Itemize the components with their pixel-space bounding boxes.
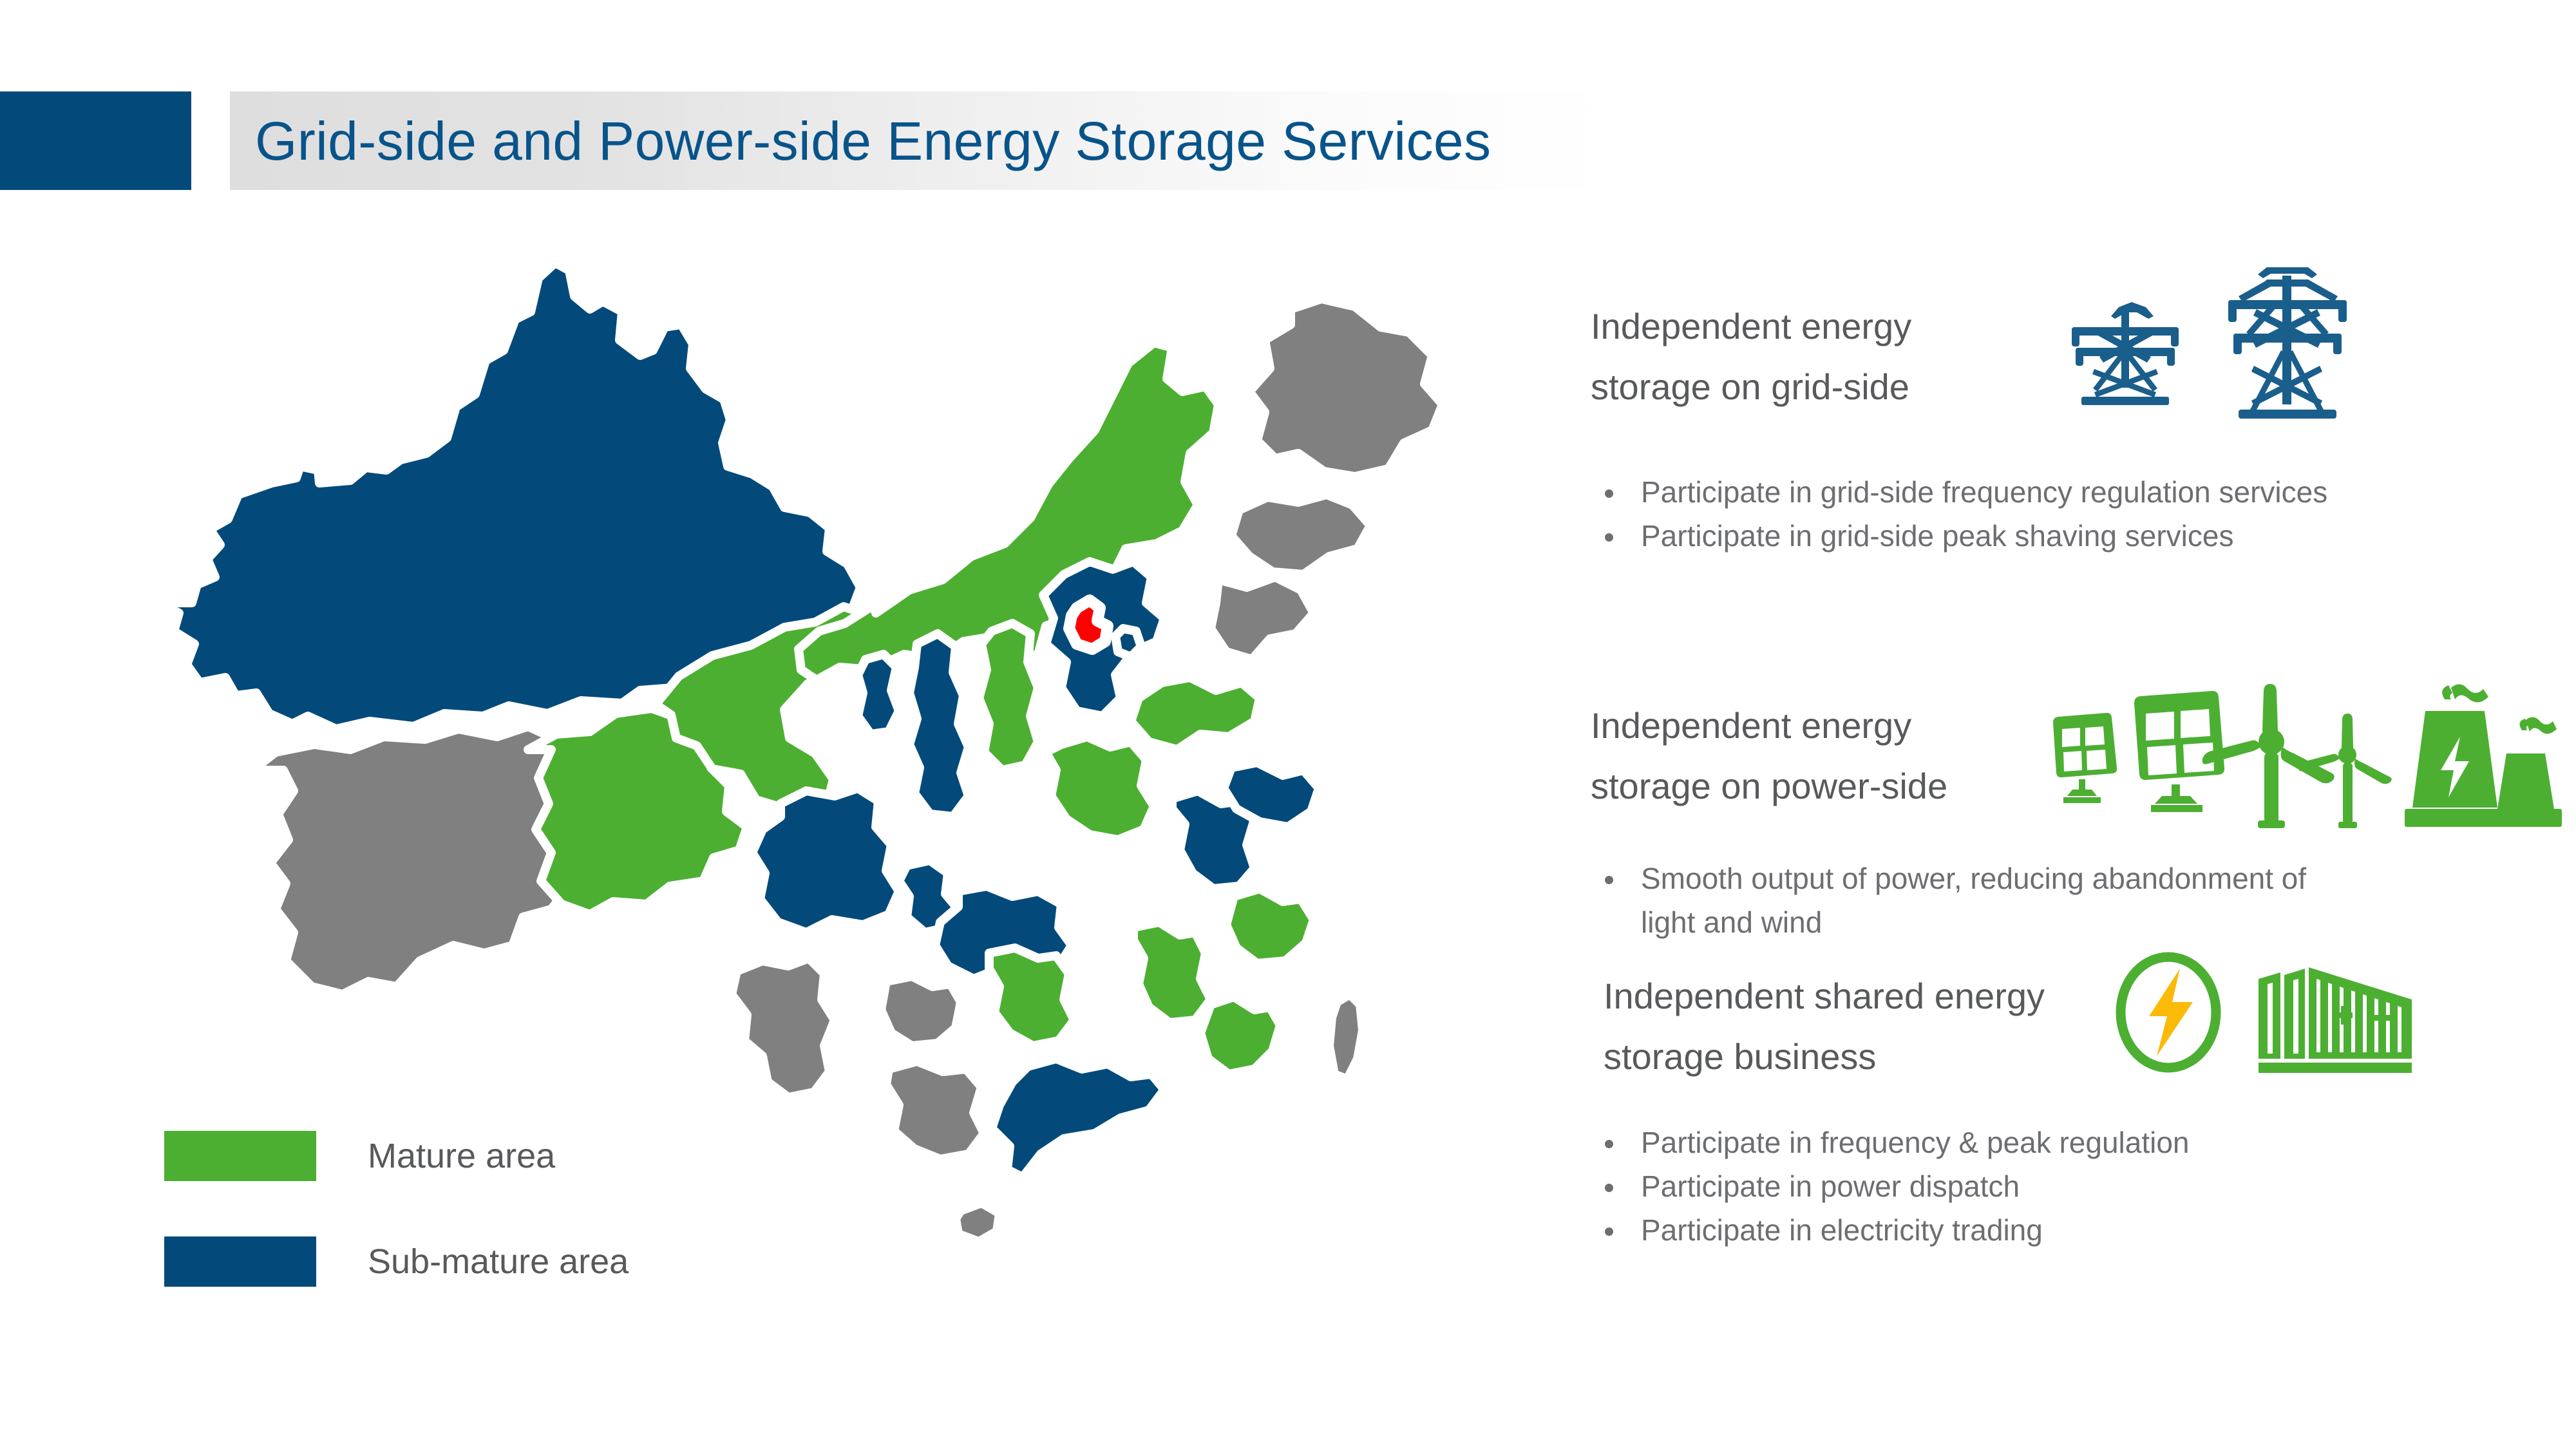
section-power-side-bullets: Smooth output of power, reducing abandon… <box>1591 857 2306 944</box>
province-jilin <box>1231 495 1370 574</box>
province-yunnan <box>732 958 835 1097</box>
bullet-item: Participate in power dispatch <box>1591 1164 2190 1208</box>
legend-label-sub-mature: Sub-mature area <box>368 1242 629 1282</box>
section-shared-storage-bullets: Participate in frequency & peak regulati… <box>1591 1121 2190 1252</box>
section-shared-storage-heading: Independent shared energy storage busine… <box>1604 966 2045 1087</box>
legend-swatch-sub-mature <box>164 1236 316 1287</box>
section-grid-side-heading: Independent energy storage on grid-side <box>1591 296 1911 417</box>
page-title: Grid-side and Power-side Energy Storage … <box>255 106 1491 176</box>
province-shandong <box>1131 677 1260 750</box>
province-guizhou <box>881 976 961 1046</box>
bullet-item: Participate in grid-side peak shaving se… <box>1591 514 2327 558</box>
section-power-side-icons <box>2048 683 2563 834</box>
power-plant-icon <box>2405 684 2562 827</box>
province-fujian <box>1200 997 1280 1074</box>
province-hainan <box>956 1203 999 1242</box>
legend-label-mature: Mature area <box>368 1136 555 1176</box>
section-grid-side-bullets: Participate in grid-side frequency regul… <box>1591 470 2327 558</box>
province-hunan <box>989 948 1074 1046</box>
bullet-item: Participate in frequency & peak regulati… <box>1591 1121 2190 1164</box>
section-power-side-heading: Independent energy storage on power-side <box>1591 696 1947 817</box>
province-liaoning <box>1211 577 1314 659</box>
section-power-side-title: Independent energy storage on power-side <box>1591 696 1947 817</box>
transmission-tower-large-icon <box>2228 267 2347 419</box>
province-guangxi <box>886 1061 984 1159</box>
province-guangdong <box>992 1059 1164 1177</box>
section-shared-storage-icons <box>2116 945 2425 1084</box>
section-shared-storage-title: Independent shared energy storage busine… <box>1604 966 2045 1087</box>
legend-item-mature: Mature area <box>164 1124 629 1188</box>
province-taiwan <box>1329 994 1363 1079</box>
section-grid-side-title: Independent energy storage on grid-side <box>1591 296 1911 417</box>
bullet-item: Participate in electricity trading <box>1591 1208 2190 1252</box>
bullet-item: Smooth output of power, reducing abandon… <box>1591 857 2306 944</box>
section-grid-side-icons <box>2054 256 2415 446</box>
province-zhejiang <box>1226 889 1314 963</box>
province-ningxia <box>858 654 899 734</box>
header-accent-block <box>0 91 191 190</box>
map-legend: Mature area Sub-mature area <box>164 1124 629 1335</box>
province-tibet <box>252 726 572 994</box>
capital-beijing <box>1069 600 1108 649</box>
province-jiangxi <box>1133 922 1211 1023</box>
china-provinces-map <box>155 258 1507 1243</box>
legend-swatch-mature <box>164 1131 316 1181</box>
province-shaanxi <box>909 634 969 817</box>
solar-panel-small-icon <box>2053 713 2117 803</box>
battery-container-icon <box>2259 967 2412 1073</box>
wind-turbine-large-icon <box>2202 684 2334 828</box>
transmission-tower-small-icon <box>2072 302 2179 405</box>
province-shanxi <box>979 623 1038 770</box>
province-heilongjiang <box>1249 299 1443 477</box>
province-tianjin <box>1115 629 1141 657</box>
slide-canvas: Grid-side and Power-side Energy Storage … <box>0 0 2576 1449</box>
legend-item-sub-mature: Sub-mature area <box>164 1229 629 1294</box>
lightning-circle-icon <box>2121 957 2216 1068</box>
bullet-item: Participate in grid-side frequency regul… <box>1591 470 2327 514</box>
province-henan <box>1046 737 1154 840</box>
